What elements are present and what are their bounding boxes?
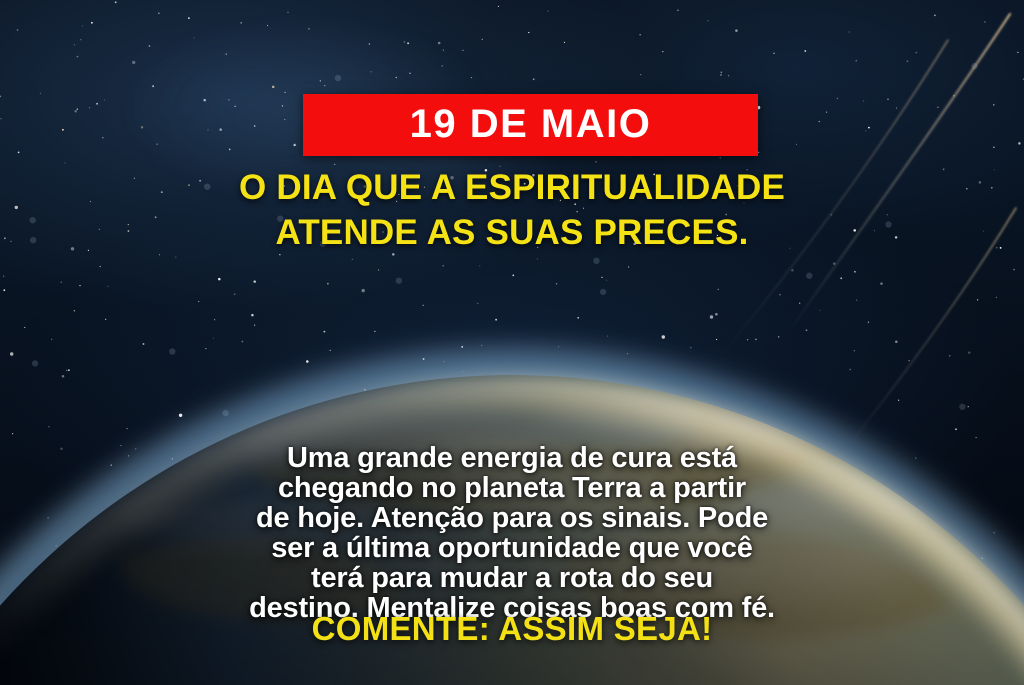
body-line-4: ser a última oportunidade que você [20, 533, 1004, 563]
date-banner-text: 19 DE MAIO [410, 104, 652, 144]
body-line-1: Uma grande energia de cura está [20, 443, 1004, 473]
call-to-action-text: COMENTE: ASSIM SEJA! [0, 612, 1024, 645]
body-line-2: chegando no planeta Terra a partir [20, 473, 1004, 503]
poster-canvas: 19 DE MAIO O DIA QUE A ESPIRITUALIDADE A… [0, 0, 1024, 685]
body-paragraph: Uma grande energia de cura está chegando… [0, 443, 1024, 623]
headline-line-2: ATENDE AS SUAS PRECES. [40, 211, 984, 256]
body-line-3: de hoje. Atenção para os sinais. Pode [20, 503, 1004, 533]
headline: O DIA QUE A ESPIRITUALIDADE ATENDE AS SU… [0, 166, 1024, 256]
body-line-5: terá para mudar a rota do seu [20, 563, 1004, 593]
date-banner: 19 DE MAIO [303, 94, 758, 156]
headline-line-1: O DIA QUE A ESPIRITUALIDADE [40, 166, 984, 211]
